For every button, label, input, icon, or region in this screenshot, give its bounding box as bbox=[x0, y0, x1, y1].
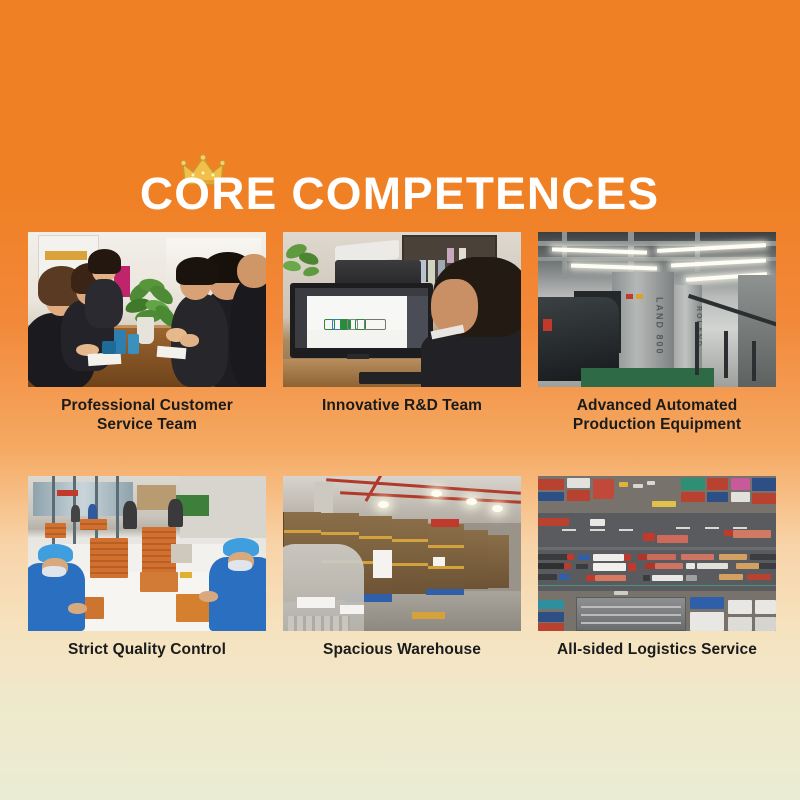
caption-line: Innovative R&D Team bbox=[283, 396, 521, 415]
grid-cell-innovative-rd-team: Innovative R&D Team bbox=[283, 232, 521, 434]
all-sided-logistics-service-photo bbox=[538, 476, 776, 631]
professional-customer-service-team-photo bbox=[28, 232, 266, 387]
grid-cell-strict-quality-control: Strict Quality Control bbox=[28, 476, 266, 659]
grid-cell-spacious-warehouse: Spacious Warehouse bbox=[283, 476, 521, 659]
cell-caption: Professional Customer Service Team bbox=[28, 396, 266, 434]
cell-caption: Spacious Warehouse bbox=[283, 640, 521, 659]
caption-line: Service Team bbox=[28, 415, 266, 434]
page-header: CORE COMPETENCES bbox=[0, 150, 800, 208]
strict-quality-control-photo bbox=[28, 476, 266, 631]
grid-cell-all-sided-logistics-service: All-sided Logistics Service bbox=[538, 476, 776, 659]
grid-cell-professional-customer-service-team: Professional Customer Service Team bbox=[28, 232, 266, 434]
grid-row-bottom: Strict Quality Control bbox=[28, 476, 775, 659]
caption-line: Professional Customer bbox=[28, 396, 266, 415]
grid-cell-advanced-automated-production-equipment: LAND 800 ROLAND Advanced Automated Produ… bbox=[538, 232, 776, 434]
caption-line: Production Equipment bbox=[538, 415, 776, 434]
cell-caption: Innovative R&D Team bbox=[283, 396, 521, 415]
caption-line: Spacious Warehouse bbox=[283, 640, 521, 659]
spacious-warehouse-photo bbox=[283, 476, 521, 631]
cell-caption: All-sided Logistics Service bbox=[538, 640, 776, 659]
page-title: CORE COMPETENCES bbox=[140, 165, 659, 223]
competences-grid: Professional Customer Service Team bbox=[28, 232, 775, 659]
caption-line: Advanced Automated bbox=[538, 396, 776, 415]
caption-line: All-sided Logistics Service bbox=[538, 640, 776, 659]
core-competences-banner: CORE COMPETENCES bbox=[0, 0, 800, 800]
grid-row-top: Professional Customer Service Team bbox=[28, 232, 775, 434]
cell-caption: Strict Quality Control bbox=[28, 640, 266, 659]
cell-caption: Advanced Automated Production Equipment bbox=[538, 396, 776, 434]
advanced-automated-production-equipment-photo: LAND 800 ROLAND bbox=[538, 232, 776, 387]
caption-line: Strict Quality Control bbox=[28, 640, 266, 659]
innovative-rd-team-photo bbox=[283, 232, 521, 387]
